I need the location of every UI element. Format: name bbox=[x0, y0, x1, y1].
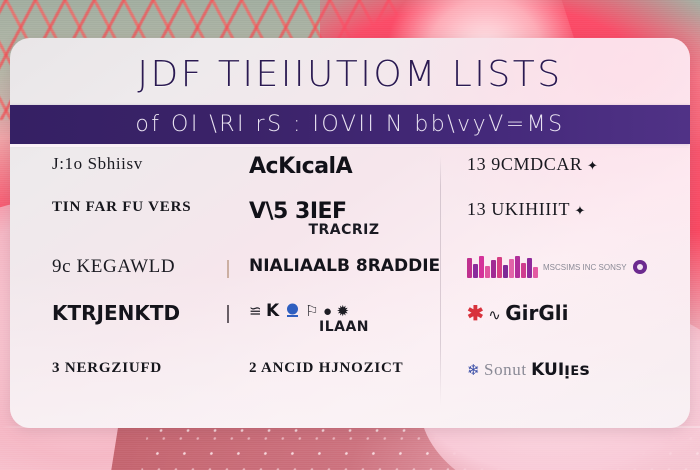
spark-icon: ✹ bbox=[337, 303, 350, 320]
row-2-value: 13 UKIHIIIT bbox=[467, 199, 570, 219]
row-1-value: 13 9CMDCAR bbox=[467, 154, 583, 174]
row-3-col-3: MSCSIMS INC SONSY bbox=[439, 256, 666, 283]
scribble-icon: ∿ bbox=[488, 307, 501, 324]
colorbars-logo-icon: MSCSIMS INC SONSY bbox=[467, 256, 648, 278]
row-1-col-1: J:1o Sbhiisv bbox=[34, 154, 249, 174]
row-1-col-3: 13 9CMDCAR ✦ bbox=[439, 154, 666, 175]
row-2-sublabel: TRACRIZ bbox=[249, 222, 439, 238]
row-4-col-1: KTRJENKTD bbox=[34, 301, 249, 325]
subtitle-banner-text: of OI \RI rS : IOVII N bb\vyV=MS bbox=[135, 112, 564, 137]
subtitle-banner: of OI \RI rS : IOVII N bb\vyV=MS bbox=[10, 105, 690, 144]
row-4-brand: GirGli bbox=[505, 301, 568, 325]
content-card: JDF TIEIIUTIOM LISTS of OI \RI rS : IOVI… bbox=[10, 38, 690, 428]
row-separator-mark bbox=[227, 305, 229, 323]
flag-icon: ⚐ bbox=[305, 303, 318, 320]
circle-badge-icon bbox=[632, 259, 648, 275]
list-item[interactable]: TIN FAR FU VERS V\5 3IEF TRACRIZ 13 UKIH… bbox=[34, 199, 666, 244]
row-3-col-1: 9c KEGAWLD bbox=[34, 256, 249, 278]
bolt-icon: ✦ bbox=[575, 203, 586, 218]
row-4-col-3: ✱ ∿ GirGli bbox=[439, 301, 666, 325]
page-title: JDF TIEIIUTIOM LISTS bbox=[10, 54, 690, 95]
row-4-sublabel: ILAAN bbox=[249, 319, 439, 335]
row-4-glyph-group: ≌ K ⚐ ● ✹ bbox=[249, 301, 439, 321]
row-separator-mark bbox=[227, 260, 229, 278]
list-item[interactable]: J:1o Sbhiisv AcKıcalA 13 9CMDCAR ✦ bbox=[34, 154, 666, 199]
list-item[interactable]: 9c KEGAWLD NIALIAALB 8RADDIE MSCSIM bbox=[34, 256, 666, 301]
row-2-col-2: V\5 3IEF TRACRIZ bbox=[249, 199, 439, 238]
list-item[interactable]: 3 NERGZIUFD 2 ANCID HJNOZICT ❄ Sonut KUI… bbox=[34, 360, 666, 405]
list-body: J:1o Sbhiisv AcKıcalA 13 9CMDCAR ✦ TIN F… bbox=[10, 148, 690, 428]
stack-lines-icon: ≌ bbox=[249, 303, 262, 320]
banner-underline bbox=[10, 144, 690, 147]
bolt-icon: ✦ bbox=[587, 158, 598, 173]
blue-emblem-icon bbox=[284, 303, 301, 318]
dot-icon: ● bbox=[323, 303, 332, 320]
list-item[interactable]: KTRJENKTD ≌ K ⚐ ● ✹ ILAAN ✱ bbox=[34, 301, 666, 346]
row-5-brand: KUIᴉᴇs bbox=[531, 360, 589, 380]
row-5-prefix: Sonut bbox=[484, 360, 527, 379]
row-1-col-2: AcKıcalA bbox=[249, 154, 439, 179]
row-2-col-3: 13 UKIHIIIT ✦ bbox=[439, 199, 666, 220]
snowflake-icon: ❄ bbox=[467, 362, 480, 379]
row-2-col-1: TIN FAR FU VERS bbox=[34, 199, 249, 216]
row-5-col-2: 2 ANCID HJNOZICT bbox=[249, 360, 439, 377]
red-star-icon: ✱ bbox=[467, 303, 484, 325]
logo-caption: MSCSIMS INC SONSY bbox=[543, 263, 627, 272]
row-4-col-2: ≌ K ⚐ ● ✹ ILAAN bbox=[249, 301, 439, 335]
row-5-col-3: ❄ Sonut KUIᴉᴇs bbox=[439, 360, 666, 380]
row-5-col-1: 3 NERGZIUFD bbox=[34, 360, 249, 377]
row-3-col-2: NIALIAALB 8RADDIE bbox=[249, 256, 439, 276]
